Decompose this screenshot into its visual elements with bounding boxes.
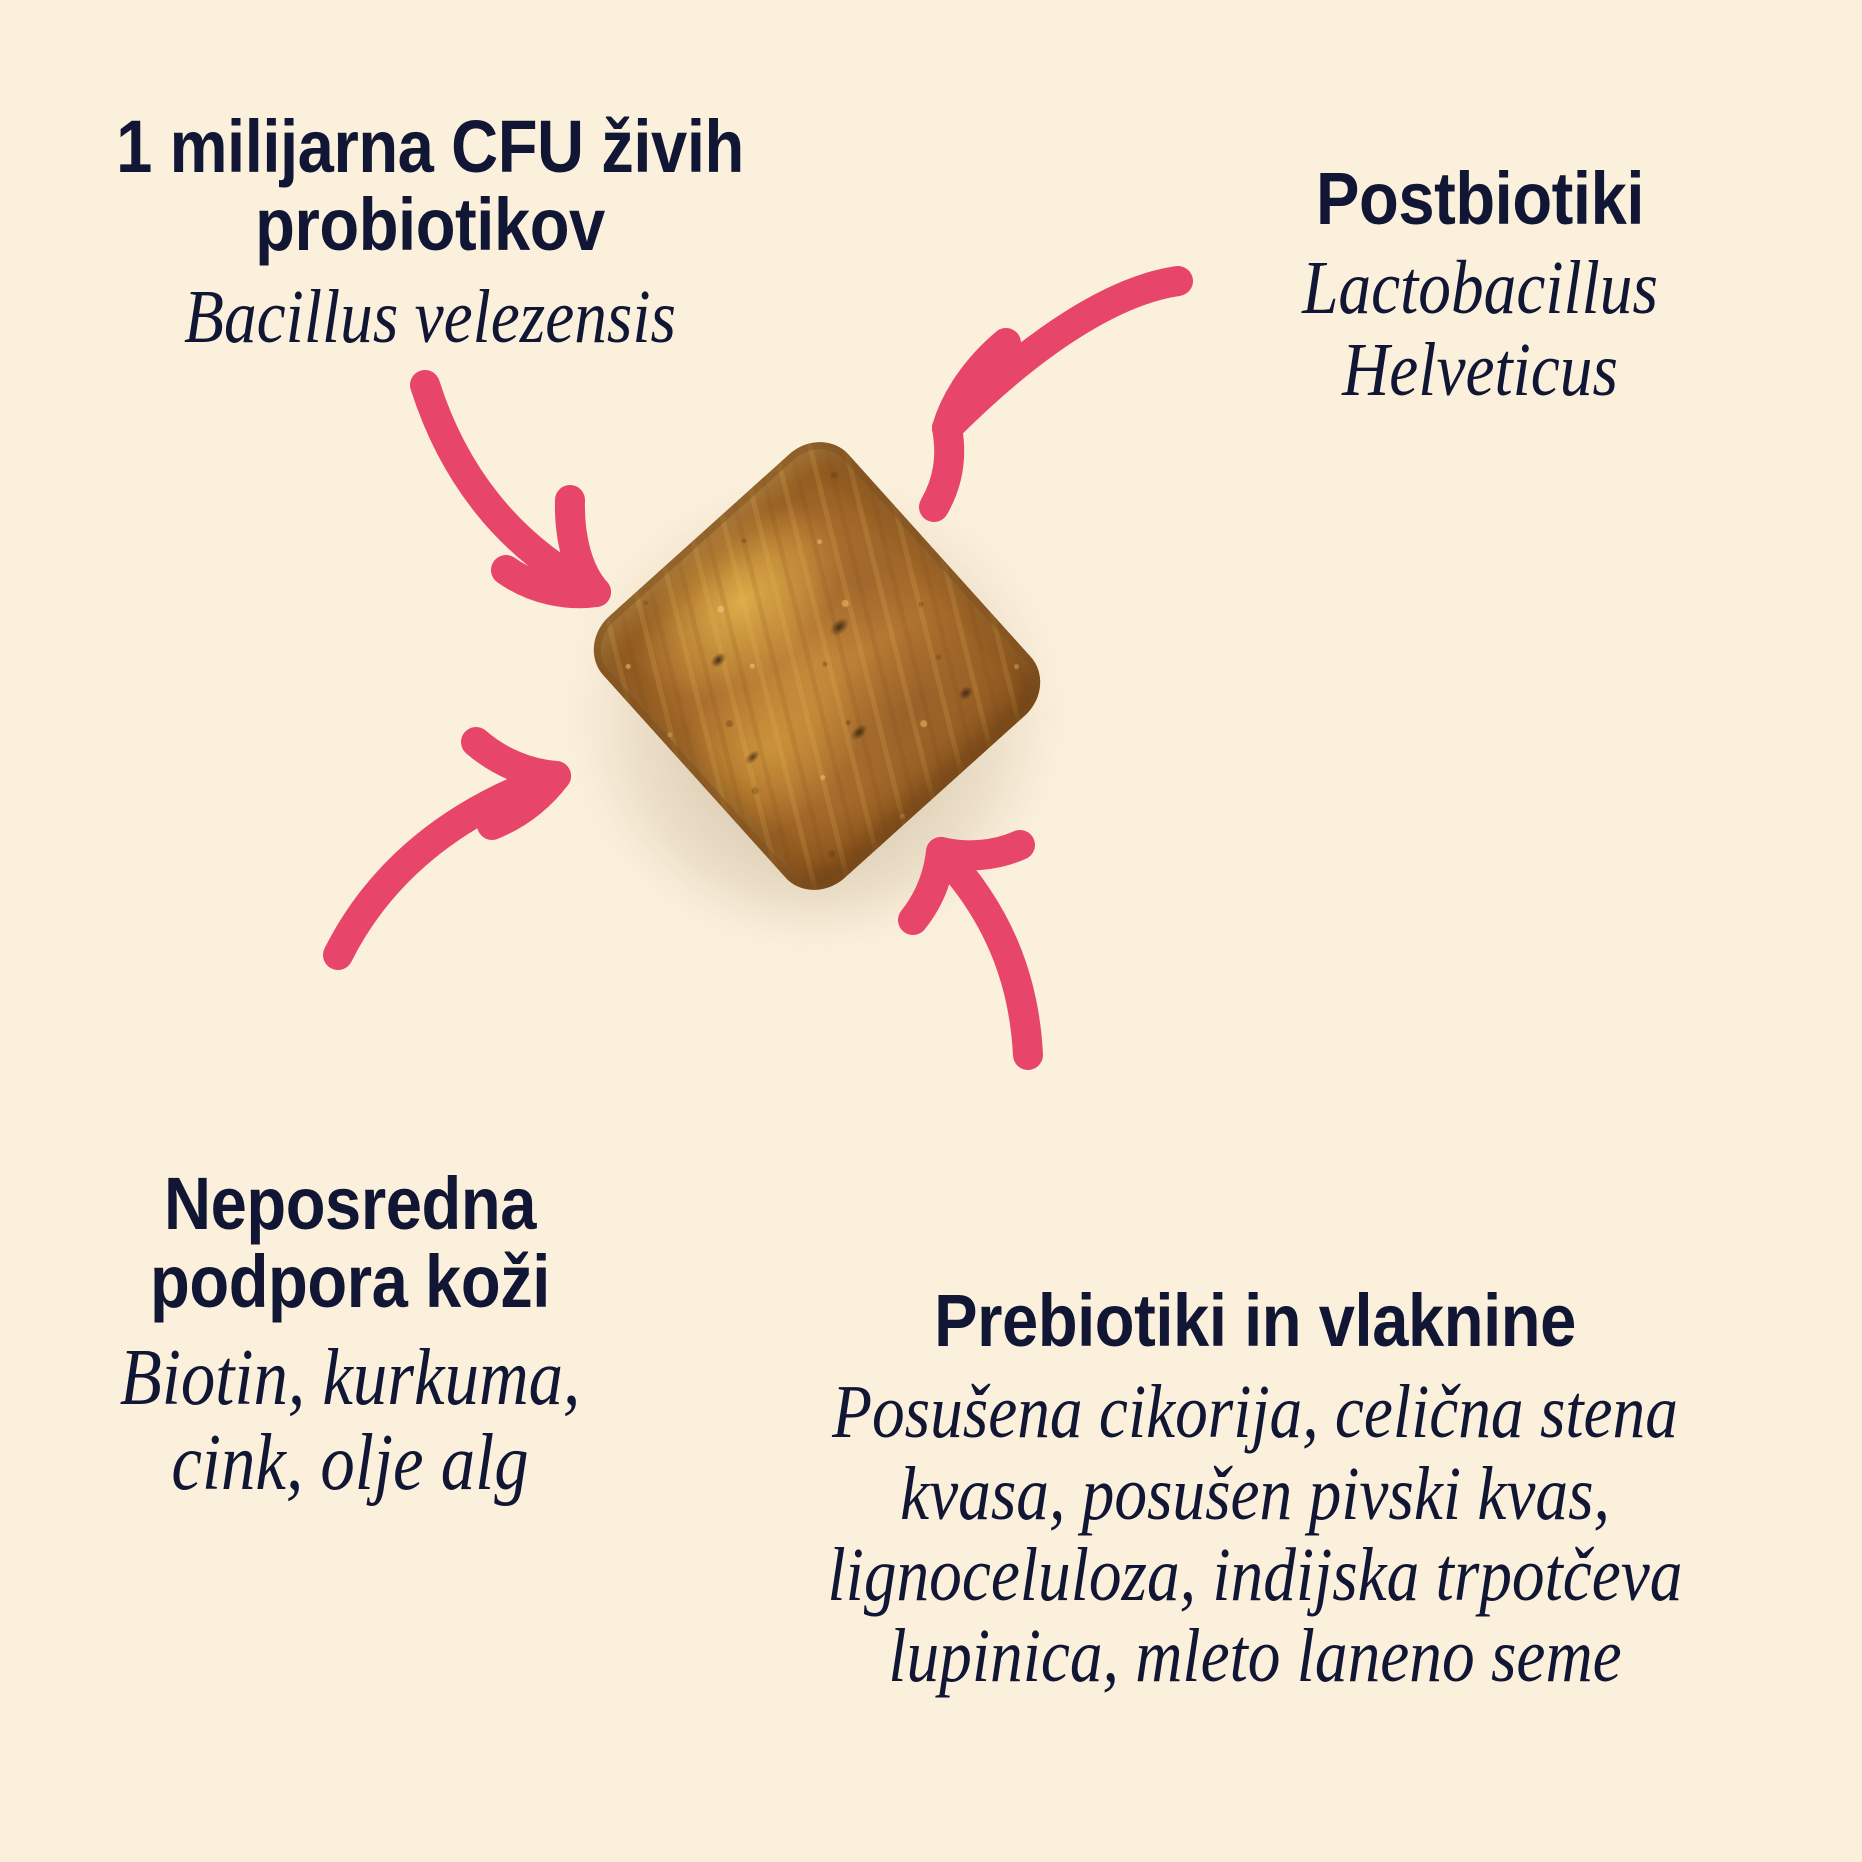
product-treat-image	[556, 406, 1076, 926]
callout-skin-support-heading-line1: Neposredna	[60, 1165, 641, 1243]
callout-probiotics-heading-line1: 1 milijarna CFU živih	[104, 108, 755, 186]
callout-postbiotics-subtext: Lactobacillus Helveticus	[1162, 248, 1798, 411]
callout-prebiotics-subtext-line2: kvasa, posušen pivski kvas,	[743, 1454, 1766, 1535]
callout-prebiotics: Prebiotiki in vlaknine Posušena cikorija…	[660, 1282, 1850, 1698]
callout-postbiotics: Postbiotiki Lactobacillus Helveticus	[1110, 160, 1850, 411]
callout-postbiotics-heading: Postbiotiki	[1154, 160, 1805, 238]
callout-postbiotics-subtext-line1: Lactobacillus	[1162, 248, 1798, 329]
callout-prebiotics-subtext-line1: Posušena cikorija, celična stena	[743, 1372, 1766, 1453]
callout-prebiotics-subtext-line3: lignoceluloza, indijska trpotčeva	[743, 1535, 1766, 1616]
callout-skin-support-subtext: Biotin, kurkuma, cink, olje alg	[66, 1336, 634, 1507]
callout-probiotics: 1 milijarna CFU živih probiotikov Bacill…	[60, 108, 800, 358]
callout-prebiotics-heading: Prebiotiki in vlaknine	[731, 1282, 1778, 1360]
arrow-to-treat-from-skin-support-icon	[338, 742, 556, 955]
callout-probiotics-subtext-line1: Bacillus velezensis	[112, 277, 748, 358]
callout-skin-support-heading-line2: podpora koži	[60, 1243, 641, 1321]
callout-probiotics-heading-line2: probiotikov	[104, 186, 755, 264]
callout-skin-support: Neposredna podpora koži Biotin, kurkuma,…	[20, 1165, 680, 1507]
callout-postbiotics-subtext-line2: Helveticus	[1162, 330, 1798, 411]
callout-probiotics-subtext: Bacillus velezensis	[112, 277, 748, 358]
callout-skin-support-heading: Neposredna podpora koži	[60, 1165, 641, 1322]
callout-prebiotics-subtext: Posušena cikorija, celična stena kvasa, …	[743, 1372, 1766, 1697]
callout-prebiotics-heading-line1: Prebiotiki in vlaknine	[731, 1282, 1778, 1360]
callout-postbiotics-heading-line1: Postbiotiki	[1154, 160, 1805, 238]
callout-prebiotics-subtext-line4: lupinica, mleto laneno seme	[743, 1616, 1766, 1697]
infographic-canvas: 1 milijarna CFU živih probiotikov Bacill…	[0, 0, 1862, 1862]
callout-skin-support-subtext-line2: cink, olje alg	[66, 1421, 634, 1507]
callout-probiotics-heading: 1 milijarna CFU živih probiotikov	[104, 108, 755, 265]
callout-skin-support-subtext-line1: Biotin, kurkuma,	[66, 1336, 634, 1422]
